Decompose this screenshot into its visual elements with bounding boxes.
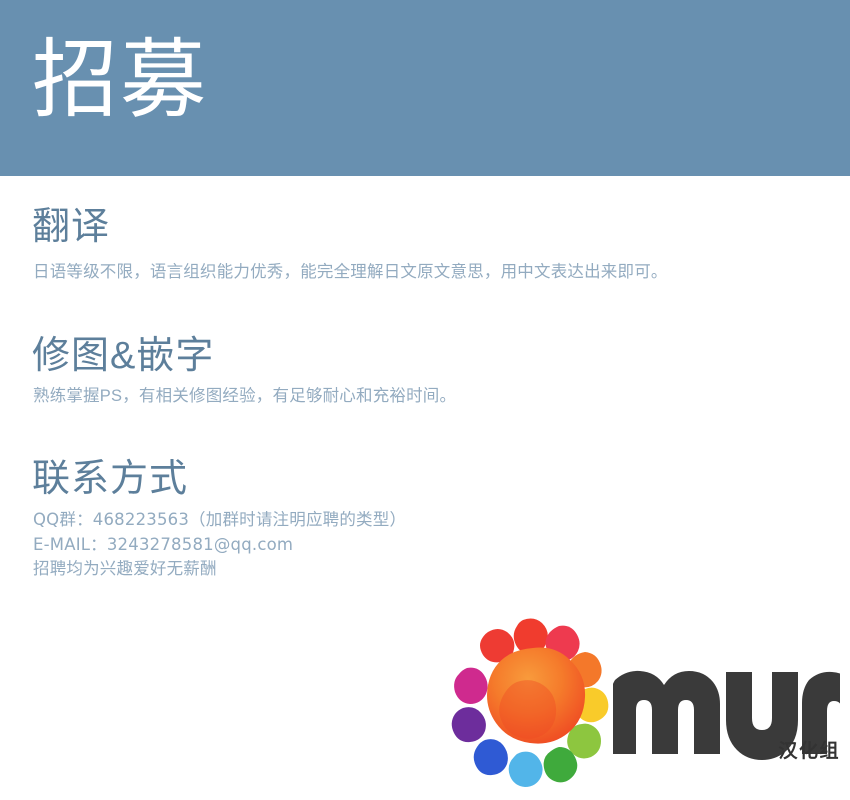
page-title: 招募 [32,37,208,123]
header-banner: 招募 [0,0,850,176]
section-translate-heading: 翻译 [32,206,822,249]
petal-magenta [454,668,488,704]
group-logo: 汉化组 [445,608,840,788]
contact-line-unpaid-note: 招聘均为兴趣爱好无薪酬 [33,557,822,582]
section-contact: 联系方式 QQ群：468223563（加群时请注明应聘的类型） E-MAIL：3… [32,458,822,582]
contact-details: QQ群：468223563（加群时请注明应聘的类型） E-MAIL：324327… [33,507,822,583]
section-edit-typeset-body: 熟练掌握PS，有相关修图经验，有足够耐心和充裕时间。 [33,384,822,410]
petal-light-blue [509,752,543,787]
section-translate: 翻译 日语等级不限，语言组织能力优秀，能完全理解日文原文意思，用中文表达出来即可… [32,206,822,285]
contact-line-qq-group: QQ群：468223563（加群时请注明应聘的类型） [33,507,822,532]
watercolor-sun-icon [445,608,625,788]
section-edit-typeset-heading: 修图&嵌字 [32,335,822,378]
section-translate-body: 日语等级不限，语言组织能力优秀，能完全理解日文原文意思，用中文表达出来即可。 [33,260,822,286]
mum-wordmark [613,664,840,786]
petal-purple [452,707,486,742]
section-edit-typeset: 修图&嵌字 熟练掌握PS，有相关修图经验，有足够耐心和充裕时间。 [32,335,822,409]
petal-blue [474,739,508,775]
contact-line-email: E-MAIL：3243278581@qq.com [33,532,822,557]
logo-subtitle: 汉化组 [778,742,840,761]
section-contact-heading: 联系方式 [32,458,822,501]
